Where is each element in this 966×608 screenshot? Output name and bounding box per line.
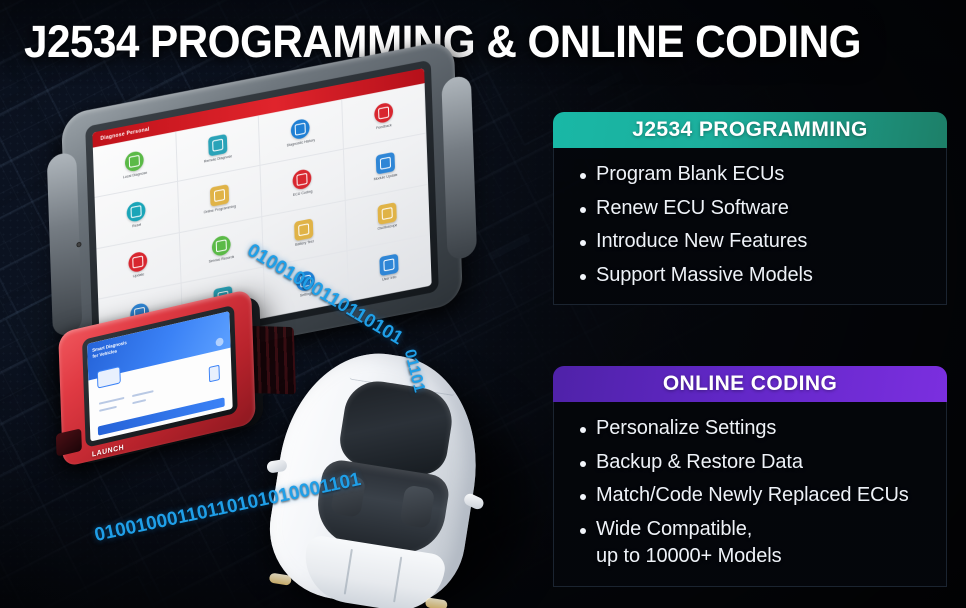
list-item: Match/Code Newly Replaced ECUs: [554, 482, 946, 510]
app-user-info-icon: [379, 253, 398, 276]
app-oscilloscope-icon: [377, 203, 396, 226]
car-hood-seam: [344, 549, 353, 595]
white-sedan: [234, 330, 571, 608]
app-module-update-icon: [376, 152, 395, 175]
app-tile-label: Battery Test: [295, 240, 314, 248]
bullet-label: Renew ECU Software: [596, 195, 789, 223]
bullet-label: Support Massive Models: [596, 262, 813, 290]
car-body: [260, 340, 493, 608]
list-item: Renew ECU Software: [554, 195, 946, 223]
app-battery-test-icon: [294, 219, 313, 242]
handheld-tile-secondary[interactable]: [209, 365, 220, 383]
app-tile-label: Online Programming: [204, 204, 237, 215]
bullet-label: Backup & Restore Data: [596, 449, 803, 477]
tablet-grip-right: [441, 74, 477, 261]
car-mirror-left: [266, 459, 288, 474]
panel-header-j2534: J2534 PROGRAMMING: [553, 112, 947, 148]
promo-banner: J2534 PROGRAMMING & ONLINE CODING Diagno…: [0, 0, 966, 608]
bullet-label: Program Blank ECUs: [596, 161, 784, 189]
panel-body-online-coding: Personalize Settings Backup & Restore Da…: [553, 402, 947, 587]
app-service-records-icon: [211, 235, 230, 258]
car-seat: [330, 474, 366, 518]
app-update-icon: [128, 251, 147, 274]
app-tile-label: User Info: [382, 275, 396, 282]
bullet-dot-icon: [580, 207, 586, 213]
bullet-dot-icon: [580, 173, 586, 179]
list-item: Introduce New Features: [554, 228, 946, 256]
bullet-dot-icon: [580, 240, 586, 246]
car-seat: [399, 485, 435, 529]
app-tile-label: Oscilloscope: [377, 224, 397, 232]
app-tile-label: Diagnostic History: [287, 138, 316, 148]
car-hood-seam: [393, 557, 402, 603]
app-feedback-icon: [374, 101, 393, 124]
app-ecu-coding-icon: [293, 168, 312, 191]
bullet-dot-icon: [580, 274, 586, 280]
handheld-avatar-icon: [216, 338, 224, 348]
bullet-dot-icon: [580, 494, 586, 500]
list-item: Backup & Restore Data: [554, 449, 946, 477]
list-item: Program Blank ECUs: [554, 161, 946, 189]
app-diagnostic-history-icon: [291, 118, 310, 141]
app-tile-label: Settings: [300, 291, 313, 298]
bullet-dot-icon: [580, 461, 586, 467]
handheld-text-line: [99, 406, 117, 412]
bullet-label: Introduce New Features: [596, 228, 807, 256]
bullet-label: Wide Compatible, up to 10000+ Models: [596, 516, 781, 571]
bullet-dot-icon: [580, 528, 586, 534]
handheld-action-button[interactable]: [98, 397, 225, 435]
panel-header-online-coding: ONLINE CODING: [553, 366, 947, 402]
handheld-text-line: [99, 396, 124, 404]
app-remote-diagnose-icon: [208, 134, 227, 157]
app-settings-icon: [296, 269, 315, 292]
app-tile-label: Remote Diagnose: [204, 154, 232, 164]
handheld-text-line: [132, 399, 146, 404]
app-tile-label: Local Diagnose: [123, 170, 147, 179]
list-item: Personalize Settings: [554, 415, 946, 443]
list-item: Wide Compatible, up to 10000+ Models: [554, 516, 946, 571]
handheld-screen-title: Smart Diagnosis for Vehicles: [92, 340, 127, 360]
panel-online-coding: ONLINE CODING Personalize Settings Backu…: [553, 366, 947, 587]
app-tile-label: Module Update: [374, 173, 398, 182]
panel-body-j2534: Program Blank ECUs Renew ECU Software In…: [553, 148, 947, 305]
handheld-screen[interactable]: Smart Diagnosis for Vehicles: [87, 311, 233, 442]
app-tile-label: Update: [133, 273, 145, 280]
app-tile-label: Reset: [132, 222, 141, 228]
app-local-diagnose-icon: [125, 150, 144, 173]
app-tile-label: Service Records: [209, 255, 235, 265]
handheld-bezel: Smart Diagnosis for Vehicles: [82, 305, 238, 448]
car-headlight-left: [269, 572, 292, 585]
app-online-programming-icon: [210, 184, 229, 207]
panel-j2534-programming: J2534 PROGRAMMING Program Blank ECUs Ren…: [553, 112, 947, 305]
bullet-label: Match/Code Newly Replaced ECUs: [596, 482, 909, 510]
list-item: Support Massive Models: [554, 262, 946, 290]
bullet-label: Personalize Settings: [596, 415, 776, 443]
app-reset-icon: [127, 200, 146, 223]
handheld-text-line: [132, 390, 154, 397]
app-tile-label: Feedback: [376, 123, 392, 131]
app-tile-label: ECU Coding: [293, 189, 313, 197]
bullet-dot-icon: [580, 427, 586, 433]
